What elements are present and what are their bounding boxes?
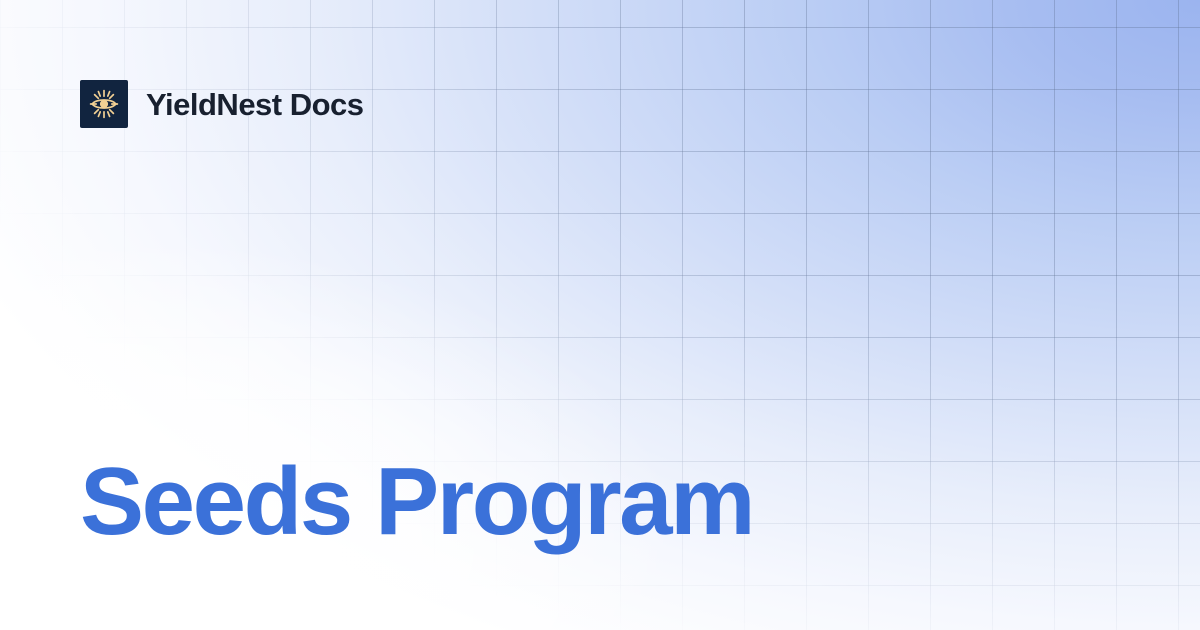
sunburst-eye-icon — [88, 88, 120, 120]
page-title: Seeds Program — [80, 452, 753, 552]
brand-name: YieldNest Docs — [146, 89, 364, 120]
brand-lockup: YieldNest Docs — [80, 80, 364, 128]
og-card: YieldNest Docs Seeds Program — [0, 0, 1200, 630]
brand-logo-tile — [80, 80, 128, 128]
card-content: YieldNest Docs Seeds Program — [0, 0, 1200, 630]
